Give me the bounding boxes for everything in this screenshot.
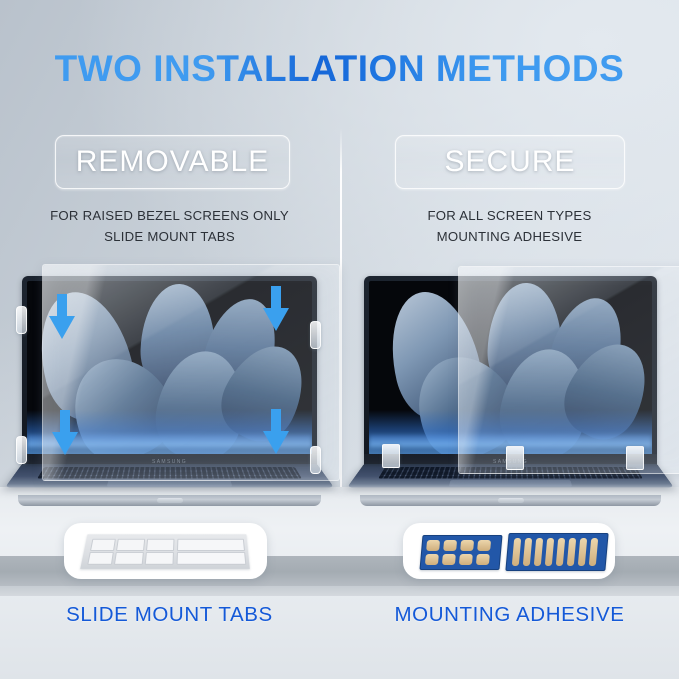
caption-slide-mount-tabs: SLIDE MOUNT TABS xyxy=(0,603,339,627)
panel-secure: SECURE FOR ALL SCREEN TYPES MOUNTING ADH… xyxy=(340,0,679,679)
accessory-card-mounting-adhesive xyxy=(403,523,615,579)
trackpad xyxy=(449,480,573,487)
badge-secure-label: SECURE xyxy=(444,145,575,179)
subtitle-secure-line1: FOR ALL SCREEN TYPES xyxy=(340,208,679,223)
laptop-front-notch xyxy=(157,498,183,503)
slide-mount-tabs-sheet xyxy=(80,534,250,569)
caption-mounting-adhesive: MOUNTING ADHESIVE xyxy=(340,603,679,627)
infographic-canvas: TWO INSTALLATION METHODS REMOVABLE FOR R… xyxy=(0,0,679,679)
trackpad xyxy=(107,480,232,487)
adhesive-sheet-square-pads xyxy=(419,535,502,570)
subtitle-secure-line2: MOUNTING ADHESIVE xyxy=(340,229,679,244)
adhesive-sheet-long-strips xyxy=(505,533,608,571)
badge-removable-label: REMOVABLE xyxy=(76,145,270,179)
accessory-card-slide-mount-tabs xyxy=(64,523,267,579)
slide-mount-tab-top-left xyxy=(16,306,27,334)
laptop-lid: SAMSUNG xyxy=(364,276,657,470)
slide-mount-tab-bottom-right xyxy=(310,446,321,474)
adhesive-tab-left xyxy=(382,444,400,468)
laptop-front-notch xyxy=(498,498,524,503)
badge-secure: SECURE xyxy=(395,135,625,189)
keyboard-keys xyxy=(37,467,303,479)
slide-mount-tab-top-right xyxy=(310,321,321,349)
adhesive-tab-center xyxy=(506,446,524,470)
adhesive-tab-right xyxy=(626,446,644,470)
laptop-base xyxy=(358,464,663,510)
laptop-screen xyxy=(369,281,652,455)
install-arrow-top-left xyxy=(47,294,77,340)
badge-removable: REMOVABLE xyxy=(55,135,290,189)
subtitle-removable-line1: FOR RAISED BEZEL SCREENS ONLY xyxy=(0,208,339,223)
laptop-base xyxy=(16,464,323,510)
install-arrow-bottom-left xyxy=(50,410,80,456)
laptop-keyboard-deck xyxy=(5,464,334,487)
slide-mount-tab-bottom-left xyxy=(16,436,27,464)
install-arrow-bottom-right xyxy=(261,409,291,455)
laptop-secure: SAMSUNG xyxy=(358,276,663,508)
panel-removable: REMOVABLE FOR RAISED BEZEL SCREENS ONLY … xyxy=(0,0,339,679)
subtitle-removable-line2: SLIDE MOUNT TABS xyxy=(0,229,339,244)
install-arrow-top-right xyxy=(261,286,291,332)
